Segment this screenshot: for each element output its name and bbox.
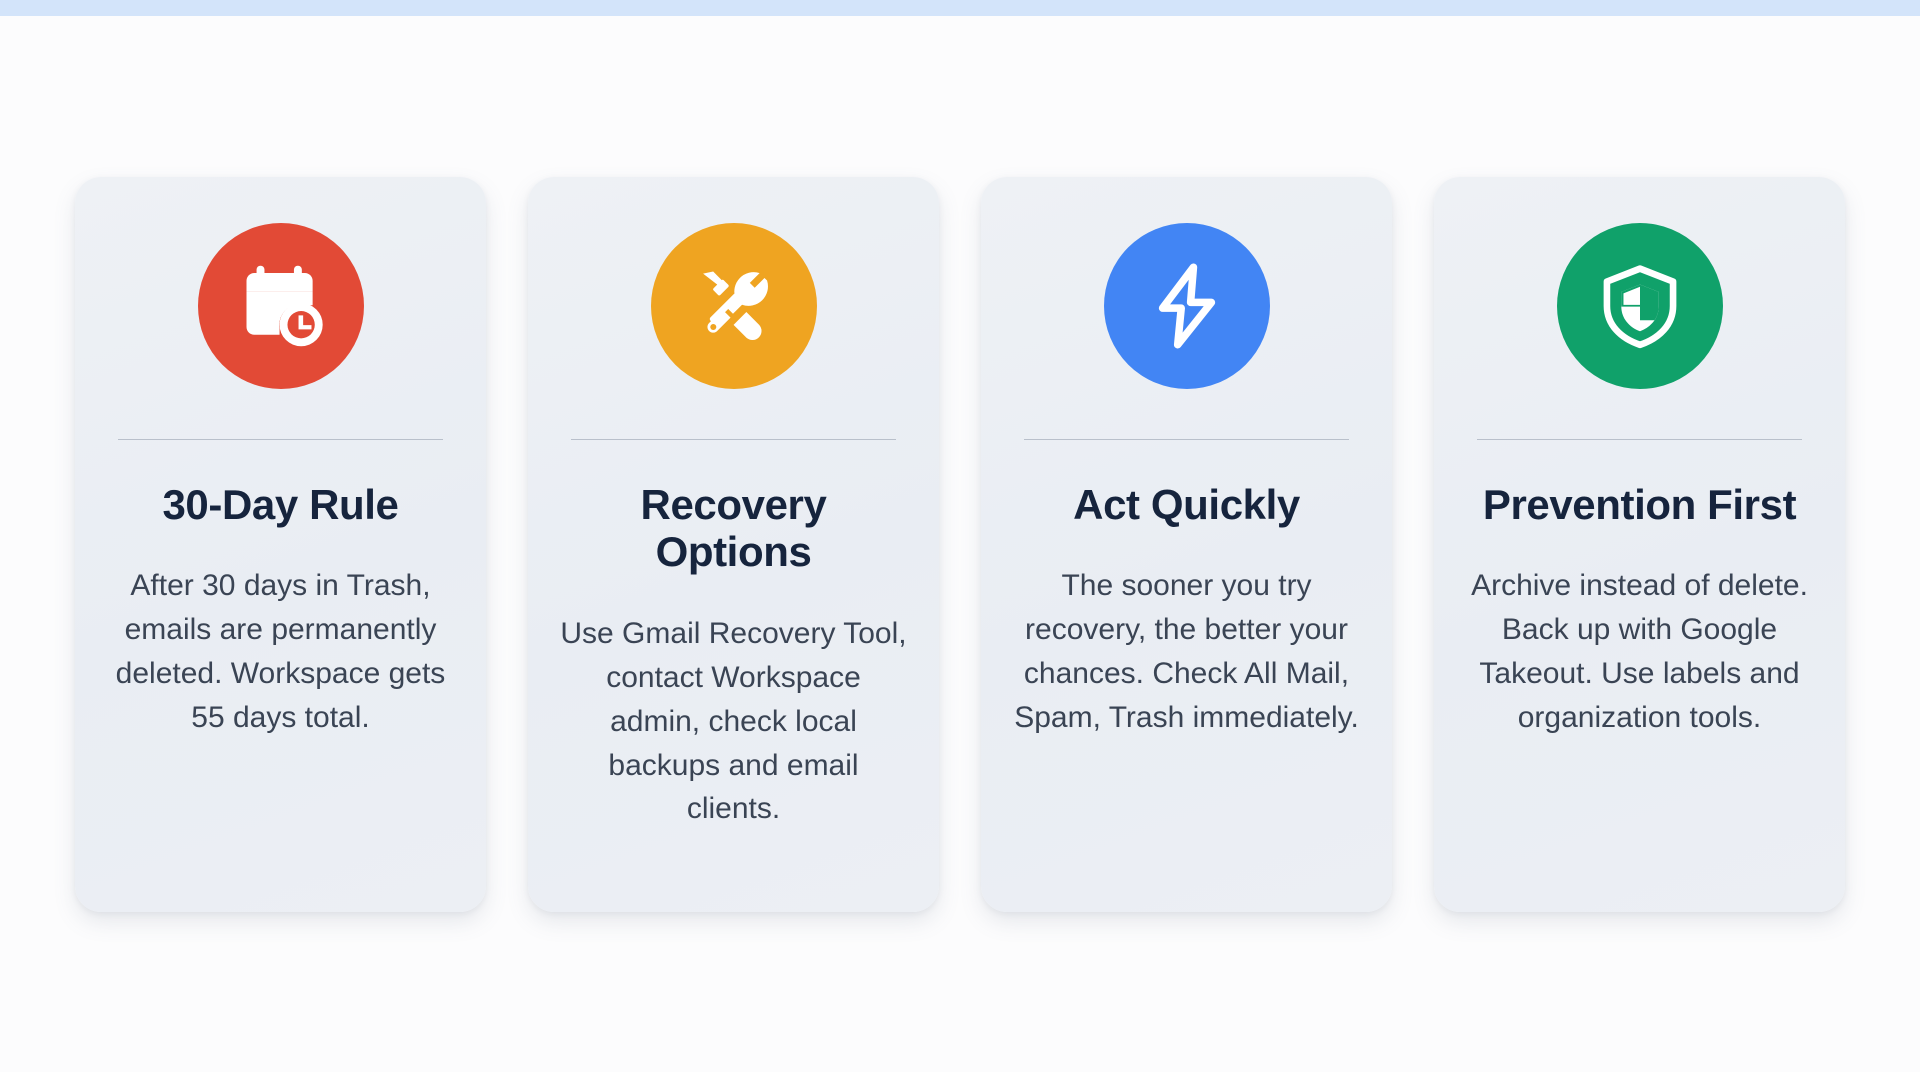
card-title: Prevention First — [1483, 440, 1796, 529]
top-accent-bar — [0, 0, 1920, 16]
calendar-clock-icon-badge — [198, 223, 364, 389]
info-card-prevention-first[interactable]: Prevention First Archive instead of dele… — [1434, 177, 1845, 912]
info-card-recovery-options[interactable]: Recovery Options Use Gmail Recovery Tool… — [528, 177, 939, 912]
card-body-text: Archive instead of delete. Back up with … — [1464, 528, 1815, 739]
card-body-text: Use Gmail Recovery Tool, contact Workspa… — [558, 576, 909, 831]
card-body-text: After 30 days in Trash, emails are perma… — [105, 528, 456, 739]
shield-check-icon-badge — [1557, 223, 1723, 389]
lightning-bolt-icon — [1141, 260, 1233, 352]
tools-wrench-screwdriver-icon-badge — [651, 223, 817, 389]
calendar-clock-icon — [235, 260, 327, 352]
lightning-bolt-icon-badge — [1104, 223, 1270, 389]
card-title: Recovery Options — [558, 440, 909, 577]
tools-wrench-screwdriver-icon — [688, 260, 780, 352]
shield-check-icon — [1594, 260, 1686, 352]
info-card-act-quickly[interactable]: Act Quickly The sooner you try recovery,… — [981, 177, 1392, 912]
card-body-text: The sooner you try recovery, the better … — [1011, 528, 1362, 739]
card-title: Act Quickly — [1073, 440, 1300, 529]
info-card-grid: 30-Day Rule After 30 days in Trash, emai… — [0, 16, 1920, 1072]
info-card-30-day-rule[interactable]: 30-Day Rule After 30 days in Trash, emai… — [75, 177, 486, 912]
card-title: 30-Day Rule — [162, 440, 398, 529]
